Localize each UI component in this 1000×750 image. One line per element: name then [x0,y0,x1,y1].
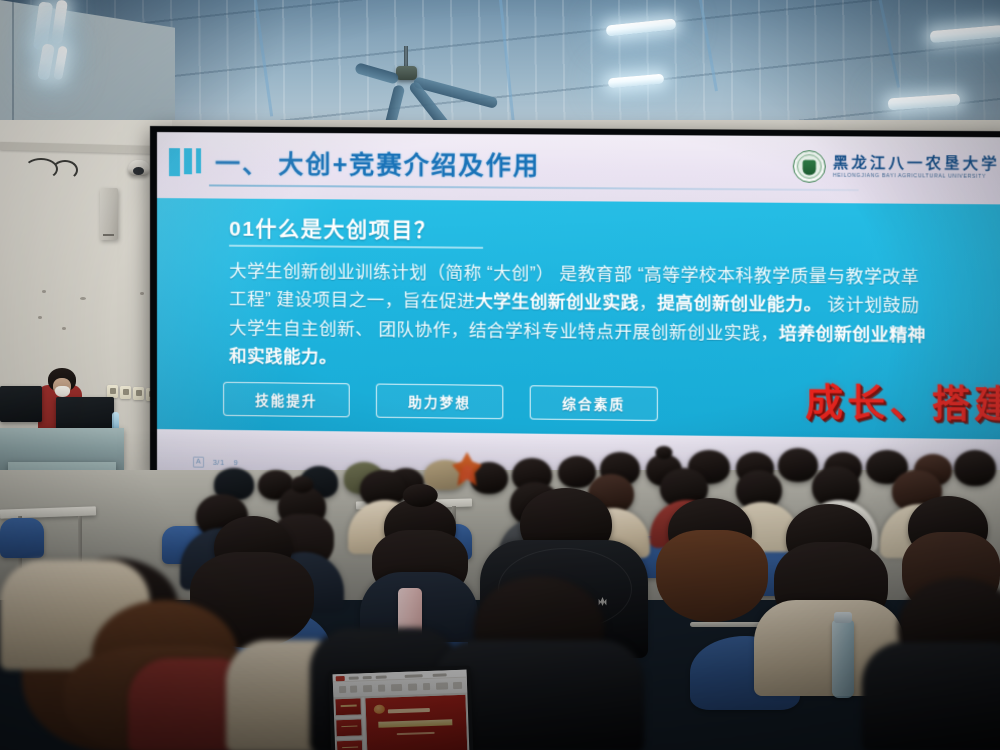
slide-header-title: 一、 大创+竞赛介绍及作用 [215,144,540,182]
university-logo: 黑龙江八一农垦大学 HEILONGJIANG BAYI AGRICULTURAL… [793,150,1000,184]
slide-body: 01什么是大创项目？ 大学生创新创业训练计划（简称 “大创”） 是教育部 “高等… [157,198,1000,439]
wall-cable [52,160,78,180]
wall-mark [140,292,144,295]
slide-subtitle-placeholder [396,731,434,735]
slide-thumbnail[interactable] [336,739,363,750]
water-bottle[interactable] [832,620,854,698]
osd-page-indicator: 3/1 [213,458,225,467]
paragraph-text: ， [639,293,657,313]
ribbon-tab[interactable] [376,675,387,678]
slide-pill-1: 技能提升 [223,382,350,418]
projection-screen[interactable]: 一、 大创+竞赛介绍及作用 黑龙江八一农垦大学 HEILONGJIANG BAY… [150,126,1000,489]
header-accent-bars [169,148,201,176]
ribbon-button-icon[interactable] [378,685,385,692]
power-outlet[interactable] [133,387,144,400]
wall-mark [42,290,46,293]
university-name-en: HEILONGJIANG BAYI AGRICULTURAL UNIVERSIT… [833,173,1000,179]
slide-highlight-text: 成长、搭建 [805,372,1000,429]
osd-chip-source: A [193,457,204,468]
ribbon-button-icon[interactable] [363,685,372,692]
section-title-underline [229,245,483,249]
header-rule [209,184,859,191]
lantern-icon [373,705,384,714]
laptop-screen [333,670,470,750]
slide-pill-row: 技能提升助力梦想综合素质 [223,382,658,421]
accent-bar-icon [184,148,192,174]
face-mask [55,386,70,397]
ceiling-fan-rod [404,46,408,68]
paragraph-emphasis: 提高创新创业能力。 [657,293,822,315]
student-laptop[interactable] [328,666,473,750]
power-outlet[interactable] [120,386,131,399]
powerpoint-titlebar[interactable] [333,670,467,683]
ribbon-tab[interactable] [405,674,423,678]
ribbon-tab[interactable] [363,676,372,679]
wall-mark [38,316,42,319]
student-head [954,450,996,486]
accent-bar-icon [196,148,201,173]
wall-speaker [100,188,118,240]
powerpoint-app-icon [336,676,345,681]
slide-edit-canvas[interactable] [364,694,468,750]
lecture-hall-photo: 一、 大创+竞赛介绍及作用 黑龙江八一农垦大学 HEILONGJIANG BAY… [0,0,1000,750]
ribbon-button-icon[interactable] [339,686,346,693]
ceiling-fan-motor [396,66,417,80]
university-logo-text: 黑龙江八一农垦大学 HEILONGJIANG BAYI AGRICULTURAL… [833,155,1000,179]
projector-osd: A 3/1 9 [193,457,238,469]
slide-gold-band [378,719,452,728]
university-seal-icon [793,150,826,183]
wall-mark [62,327,66,330]
wall-mark [80,297,86,300]
cctv-camera-icon [128,160,150,176]
podium-monitor[interactable] [0,386,42,422]
slide-thumbnail-panel[interactable] [335,698,364,750]
slide-surface: 一、 大创+竞赛介绍及作用 黑龙江八一农垦大学 HEILONGJIANG BAY… [157,132,1000,482]
ribbon-button-icon[interactable] [423,683,430,690]
student-head [778,448,818,482]
paragraph-emphasis: 大学生创新创业实践 [475,291,639,313]
slide-pill-2: 助力梦想 [376,384,503,420]
auditorium-seat[interactable] [0,518,44,558]
bottle-cap[interactable] [834,612,852,623]
ribbon-tab[interactable] [349,676,359,679]
ribbon-tab[interactable] [433,673,447,676]
student-body [862,642,1000,750]
student-hair [656,530,768,622]
ribbon-button-icon[interactable] [408,683,417,690]
slide-section-title: 01什么是大创项目？ [229,213,437,245]
slide-header: 一、 大创+竞赛介绍及作用 黑龙江八一农垦大学 HEILONGJIANG BAY… [157,132,1000,204]
desk-leg [78,516,82,562]
slide-thumbnail[interactable] [335,698,362,717]
podium-monitor[interactable] [56,397,114,431]
ribbon-button-icon[interactable] [436,682,448,689]
slide-title-placeholder [388,708,430,713]
ribbon-button-icon[interactable] [453,682,462,689]
osd-label: 9 [234,458,239,467]
university-name-cn: 黑龙江八一农垦大学 [833,155,1000,171]
ribbon-button-icon[interactable] [391,684,402,691]
slide-paragraph: 大学生创新创业训练计划（简称 “大创”） 是教育部 “高等学校本科教学质量与教学… [229,257,931,378]
slide-pill-3: 综合素质 [530,385,658,421]
ribbon-button-icon[interactable] [350,686,357,693]
slide-thumbnail[interactable] [335,718,362,737]
accent-bar-icon [169,148,180,176]
